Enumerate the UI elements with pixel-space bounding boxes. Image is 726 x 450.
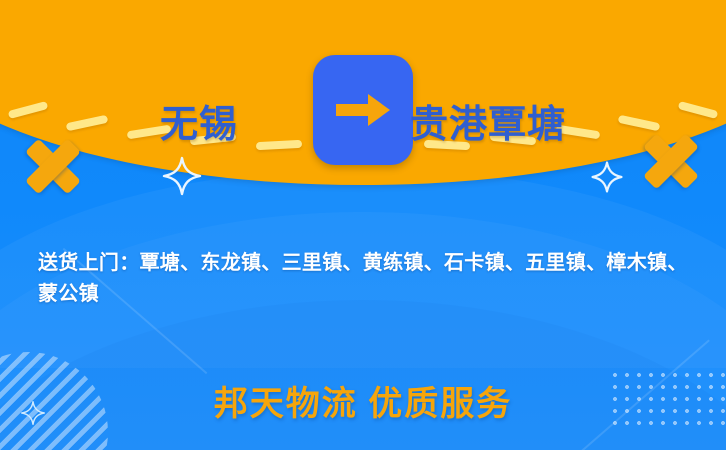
destination-city-label: 贵港覃塘 (410, 106, 566, 144)
company-slogan: 邦天物流 优质服务 (0, 388, 726, 422)
route-row: 无锡 贵港覃塘 (0, 90, 726, 160)
logistics-route-banner: 无锡 贵港覃塘 送货上门：覃塘、东龙镇、三里镇、黄练镇、石卡镇、五里镇、樟木镇、… (0, 0, 726, 450)
origin-city-label: 无锡 (160, 106, 238, 144)
delivery-areas-text: 送货上门：覃塘、东龙镇、三里镇、黄练镇、石卡镇、五里镇、樟木镇、蒙公镇 (38, 248, 698, 310)
